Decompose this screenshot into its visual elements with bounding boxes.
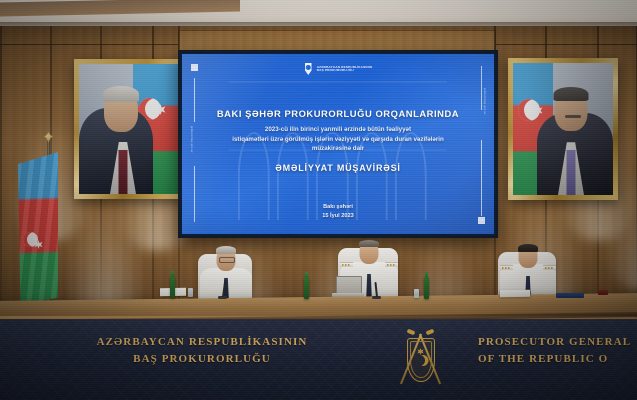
slide-main-label: ƏMƏLİYYAT MÜŞAVİRƏSİ — [208, 163, 468, 173]
panel-text-az-line2: BAŞ PROKURORLUĞU — [62, 351, 342, 368]
crescent-icon — [23, 232, 38, 247]
person-hair — [359, 240, 379, 247]
flag-folds — [18, 152, 58, 304]
water-glass — [188, 288, 193, 297]
panel-text-en-line2: OF THE REPUBLIC O — [478, 351, 637, 368]
prosecutor-emblem-icon — [398, 328, 442, 392]
panel-text-en-line1: PROSECUTOR GENERAL — [478, 334, 637, 351]
official-left — [196, 246, 256, 302]
corner-mark-top-left — [191, 64, 198, 71]
slide-footer: Bakı şəhəri 15 İyul 2023 — [182, 203, 494, 221]
panel-text-azerbaijani: AZƏRBAYCAN RESPUBLİKASININ BAŞ PROKURORL… — [62, 334, 342, 367]
wall-header-box — [178, 30, 496, 52]
photo-scene: prokurorluq.gov.az prokurorluq.gov.az AZ… — [0, 0, 637, 400]
green-glass-bottle — [170, 276, 175, 298]
wall-seam — [0, 26, 2, 316]
slide-logo-line2: BAŞ PROKURORLUĞU — [317, 69, 372, 72]
blue-folder — [556, 293, 584, 298]
green-glass-bottle — [424, 277, 429, 299]
presentation-screen[interactable]: prokurorluq.gov.az prokurorluq.gov.az AZ… — [178, 50, 498, 238]
sword-hilt — [407, 329, 416, 336]
slide-subtitle-line1: 2023-cü ilin birinci yarımili ərzində bü… — [208, 125, 468, 135]
slide-body: BAKI ŞƏHƏR PROKURORLUĞU ORQANLARINDA 202… — [182, 108, 494, 173]
slide-subtitle-line2: istiqamətləri üzrə görülmüş işlərin vəzi… — [208, 135, 468, 145]
prosecutor-shield-icon — [304, 63, 313, 75]
crescent-icon — [414, 355, 425, 366]
slide-logo: AZƏRBAYCAN RESPUBLİKASININ BAŞ PROKURORL… — [304, 63, 372, 75]
papers — [500, 290, 530, 298]
rule-line — [481, 66, 482, 110]
panel-text-az-line1: AZƏRBAYCAN RESPUBLİKASININ — [62, 334, 342, 351]
sword-hilt — [426, 329, 435, 336]
panel-text-english: PROSECUTOR GENERAL OF THE REPUBLIC O — [478, 334, 637, 367]
slide-title: BAKI ŞƏHƏR PROKURORLUĞU ORQANLARINDA — [208, 108, 468, 119]
laptop-base[interactable] — [332, 293, 364, 297]
green-glass-bottle — [304, 277, 309, 299]
water-glass — [414, 289, 419, 298]
slide-footer-date: 15 İyul 2023 — [182, 212, 494, 221]
portrait-glass-glare — [79, 64, 179, 194]
slide-subtitle: 2023-cü ilin birinci yarımili ərzində bü… — [208, 125, 468, 154]
slide-footer-city: Bakı şəhəri — [182, 203, 494, 212]
portrait-glass-glare — [513, 63, 613, 195]
portrait-heydar-aliyev — [74, 59, 184, 199]
slide-subtitle-line3: müzakirəsinə dair — [208, 144, 468, 154]
portrait-ilham-aliyev — [508, 58, 618, 200]
person-hair — [518, 244, 538, 252]
epaulette-left — [500, 265, 513, 270]
epaulette-right — [385, 262, 398, 267]
watermark-line — [229, 81, 447, 83]
eyeglasses-icon — [219, 257, 235, 263]
screen-surface: prokurorluq.gov.az prokurorluq.gov.az AZ… — [182, 54, 494, 234]
slide-logo-text: AZƏRBAYCAN RESPUBLİKASININ BAŞ PROKURORL… — [317, 66, 372, 73]
epaulette-left — [340, 262, 353, 267]
red-desk-item — [598, 290, 608, 295]
epaulette-right — [543, 265, 556, 270]
person-hair — [216, 246, 236, 254]
